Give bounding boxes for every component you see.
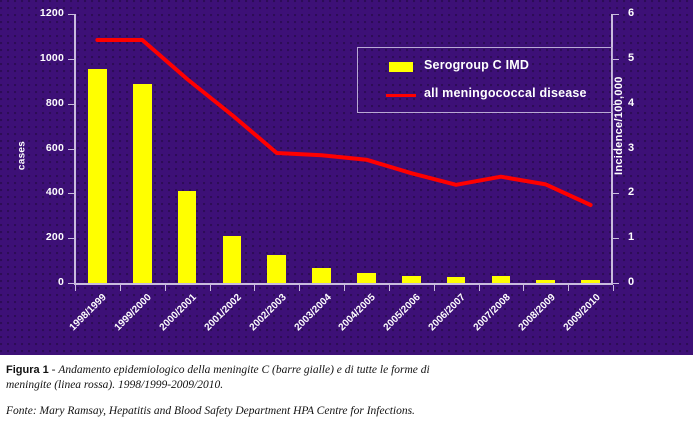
x-axis-tick-label: 2006/2007: [416, 292, 468, 344]
caption-text-1: Andamento epidemiologico della meningite…: [58, 364, 429, 376]
x-axis-tick-label: 2008/2009: [506, 292, 558, 344]
legend-item-serogroup-c-imd: Serogroup C IMD: [358, 56, 612, 78]
y-axis-left-tick: [68, 193, 74, 194]
y-axis-right-title: Incidence/100,000: [613, 76, 625, 175]
caption-line-2: meningite (linea rossa). 1998/1999-2009/…: [6, 378, 686, 393]
figure-root: 020040060080010001200 0123456 cases Inci…: [0, 0, 693, 431]
y-axis-right-tick: [613, 14, 619, 15]
y-axis-left-title: cases: [17, 126, 28, 186]
y-axis-left-tick: [68, 104, 74, 105]
y-axis-right-tick-label: 3: [628, 142, 652, 154]
figure-label: Figura 1: [6, 364, 49, 376]
legend-label-0: Serogroup C IMD: [424, 58, 529, 72]
legend-item-all-meningococcal-disease: all meningococcal disease: [358, 84, 612, 106]
y-axis-right-tick-label: 6: [628, 7, 652, 19]
y-axis-left-tick-label: 800: [18, 97, 64, 109]
y-axis-right-tick-label: 4: [628, 97, 652, 109]
y-axis-left-tick-label: 400: [18, 186, 64, 198]
y-axis-right-tick-label: 0: [628, 276, 652, 288]
caption-dash: -: [49, 364, 59, 376]
y-axis-left-tick: [68, 283, 74, 284]
caption-area: Figura 1 - Andamento epidemiologico dell…: [0, 355, 693, 431]
x-axis-tick-label: 2009/2010: [551, 292, 603, 344]
x-axis-tick-label: 2002/2003: [237, 292, 289, 344]
chart-legend: Serogroup C IMD all meningococcal diseas…: [357, 47, 613, 113]
x-axis-tick-label: 2001/2002: [192, 292, 244, 344]
y-axis-left-tick-label: 1000: [18, 52, 64, 64]
y-axis-right-tick: [613, 238, 619, 239]
legend-bar-swatch-icon: [389, 62, 413, 72]
y-axis-left-tick-label: 200: [18, 231, 64, 243]
legend-line-swatch-icon: [386, 94, 416, 97]
y-axis-left-tick-label: 1200: [18, 7, 64, 19]
y-axis-right-tick: [613, 59, 619, 60]
y-axis-left-tick: [68, 149, 74, 150]
y-axis-left-tick: [68, 59, 74, 60]
x-axis-tick-label: 2007/2008: [461, 292, 513, 344]
y-axis-left-tick-label: 0: [18, 276, 64, 288]
y-axis-left-tick: [68, 14, 74, 15]
y-axis-right-tick-label: 2: [628, 186, 652, 198]
y-axis-right-tick-label: 5: [628, 52, 652, 64]
y-axis-right-tick: [613, 193, 619, 194]
x-axis-labels: 1998/19991999/20002000/20012001/20022002…: [75, 288, 613, 354]
y-axis-left-tick: [68, 238, 74, 239]
x-axis-tick: [613, 285, 614, 291]
y-axis-right-tick-label: 1: [628, 231, 652, 243]
caption-source: Fonte: Mary Ramsay, Hepatitis and Blood …: [6, 404, 686, 419]
y-axis-right-tick: [613, 283, 619, 284]
legend-label-1: all meningococcal disease: [424, 86, 587, 100]
chart-panel: 020040060080010001200 0123456 cases Inci…: [0, 0, 693, 355]
x-axis-tick-label: 2000/2001: [147, 292, 199, 344]
caption-line-1: Figura 1 - Andamento epidemiologico dell…: [6, 363, 686, 378]
